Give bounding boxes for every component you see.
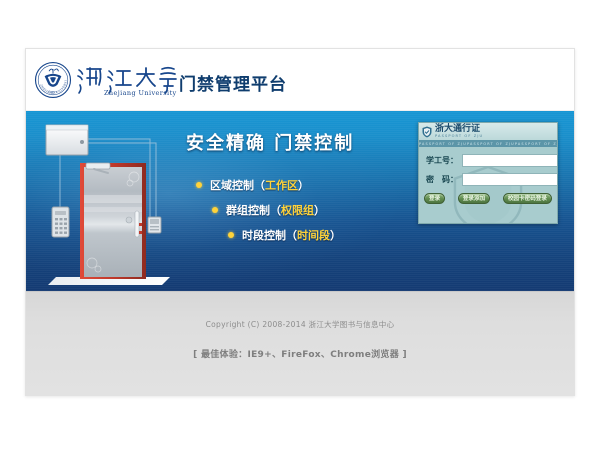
hero-bullet-time-control: 时段控制（ 时间段 ）	[228, 227, 416, 243]
bullet-dot-icon	[228, 232, 234, 238]
login-title-en: PASSPORT OF ZJU	[435, 134, 483, 139]
login-titlebar: 浙大通行证 PASSPORT OF ZJU	[419, 123, 557, 140]
password-row: 密 码：	[426, 173, 550, 186]
login-ribbon-text: PASSPORT OF ZJU	[419, 142, 467, 146]
hero-bullet-tail: ）	[314, 202, 325, 218]
hero-bullet-accent: 时间段	[297, 227, 330, 243]
hero-bullet-text: 时段控制（	[242, 227, 297, 243]
zhejiang-university-seal-icon: 1897 ZHEJIANG UNIVERSITY	[34, 61, 72, 99]
page-card: 1897 ZHEJIANG UNIVERSITY Zhejiang Univer…	[25, 48, 575, 396]
password-label: 密 码：	[426, 174, 458, 185]
brand-wordmark: Zhejiang University	[76, 63, 191, 97]
brand-wordmark-en: Zhejiang University	[104, 89, 177, 97]
access-control-door-illustration	[38, 119, 188, 291]
bullet-dot-icon	[212, 207, 218, 213]
shield-icon	[422, 126, 432, 138]
keypad-reader	[52, 207, 69, 237]
hero-bullet-tail: ）	[298, 177, 309, 193]
controller-box	[46, 125, 88, 155]
password-field[interactable]	[462, 173, 558, 186]
login-button[interactable]: 登录	[424, 193, 445, 204]
footer-copyright: Copyright (C) 2008-2014 浙江大学图书与信息中心	[26, 292, 574, 330]
login-title-cn: 浙大通行证	[435, 125, 483, 134]
campus-card-login-button[interactable]: 校园卡密码登录	[503, 193, 552, 204]
glass-door	[80, 163, 146, 279]
bullet-dot-icon	[196, 182, 202, 188]
login-ribbon: PASSPORT OF ZJU PASSPORT OF ZJU PASSPORT…	[419, 140, 557, 147]
hero-bullet-tail: ）	[330, 227, 341, 243]
login-body: 学工号： 密 码：	[419, 147, 557, 186]
hero-bullet-area-control: 区域控制（ 工作区 ）	[196, 177, 416, 193]
user-id-label: 学工号：	[426, 155, 458, 166]
hero-bullet-group-control: 群组控制（ 权限组 ）	[212, 202, 416, 218]
hero-headline: 安全精确 门禁控制	[186, 129, 416, 155]
login-ribbon-text: PASSPORT OF ZJU	[515, 142, 557, 146]
user-id-row: 学工号：	[426, 154, 550, 167]
site-footer: Copyright (C) 2008-2014 浙江大学图书与信息中心 [ 最佳…	[26, 291, 574, 396]
login-add-button[interactable]: 登录添加	[458, 193, 490, 204]
hero-bullet-accent: 工作区	[265, 177, 298, 193]
card-reader	[148, 217, 161, 233]
site-header: 1897 ZHEJIANG UNIVERSITY Zhejiang Univer…	[26, 49, 574, 111]
hero-bullet-accent: 权限组	[281, 202, 314, 218]
login-panel: 浙大通行证 PASSPORT OF ZJU PASSPORT OF ZJU PA…	[418, 122, 558, 224]
login-ribbon-text: PASSPORT OF ZJU	[467, 142, 515, 146]
page-title: 门禁管理平台	[179, 70, 287, 95]
hero-bullet-text: 群组控制（	[226, 202, 281, 218]
hero-bullet-text: 区域控制（	[210, 177, 265, 193]
login-buttons: 登录 登录添加 校园卡密码登录	[419, 192, 557, 204]
user-id-field[interactable]	[462, 154, 558, 167]
hero-banner: 安全精确 门禁控制 区域控制（ 工作区 ） 群组控制（ 权限组 ） 时段控制（ …	[26, 111, 574, 291]
footer-browser-note: [ 最佳体验：IE9+、FireFox、Chrome浏览器 ]	[26, 330, 574, 360]
hero-copy: 安全精确 门禁控制 区域控制（ 工作区 ） 群组控制（ 权限组 ） 时段控制（ …	[186, 129, 416, 243]
